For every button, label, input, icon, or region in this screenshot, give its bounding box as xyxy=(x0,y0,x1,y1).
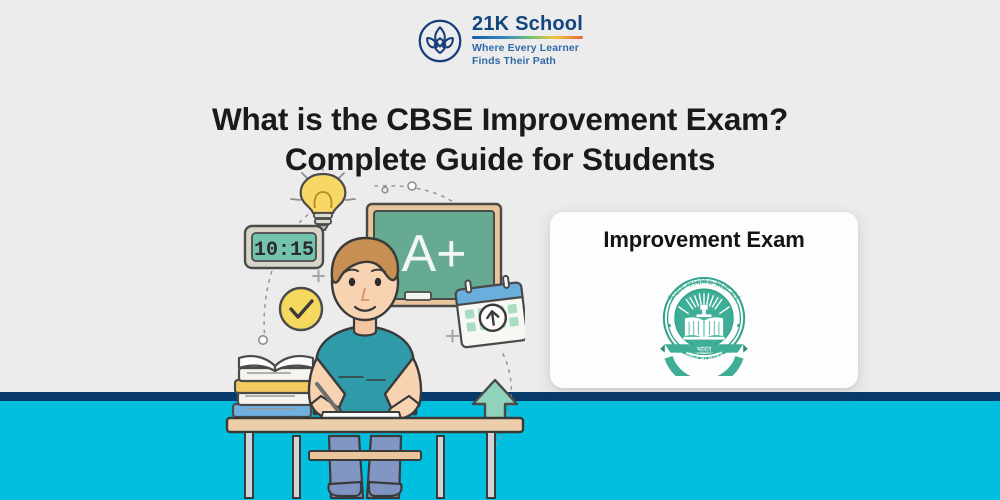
exam-card-title: Improvement Exam xyxy=(550,227,858,253)
improvement-exam-card[interactable]: Improvement Exam केन्द्रीय माध्यमिक शिक्… xyxy=(550,212,858,388)
cbse-board-seal-icon: केन्द्रीय माध्यमिक शिक्षा बोर्ड xyxy=(648,264,760,376)
brand-name: 21K School xyxy=(472,14,583,34)
clock-time-text: 10:15 xyxy=(254,239,314,262)
brand-tagline-line2: Finds Their Path xyxy=(472,55,556,67)
dot-marker xyxy=(408,182,416,190)
lotus-circle-logo-icon xyxy=(417,18,463,64)
dot-marker xyxy=(259,336,267,344)
brand-tagline: Where Every Learner Finds Their Path xyxy=(472,42,583,68)
brand-logo[interactable]: 21K School Where Every Learner Finds The… xyxy=(0,14,1000,68)
brand-wordmark: 21K School Where Every Learner Finds The… xyxy=(472,14,583,68)
chalkboard-text: A+ xyxy=(401,225,466,283)
book-stack xyxy=(233,356,315,417)
brand-gradient-rule xyxy=(472,36,583,39)
page-title-line1: What is the CBSE Improvement Exam? xyxy=(0,99,1000,139)
banner-root: 21K School Where Every Learner Finds The… xyxy=(0,0,1000,500)
student-studying-illustration: A+ 10:15 xyxy=(225,168,525,500)
dot-marker xyxy=(382,187,388,193)
digital-clock-icon: 10:15 xyxy=(245,226,323,268)
calendar-icon xyxy=(454,274,525,348)
brand-tagline-line1: Where Every Learner xyxy=(472,42,579,54)
seal-country-text: भारत xyxy=(697,344,712,353)
check-circle-icon xyxy=(280,288,322,330)
